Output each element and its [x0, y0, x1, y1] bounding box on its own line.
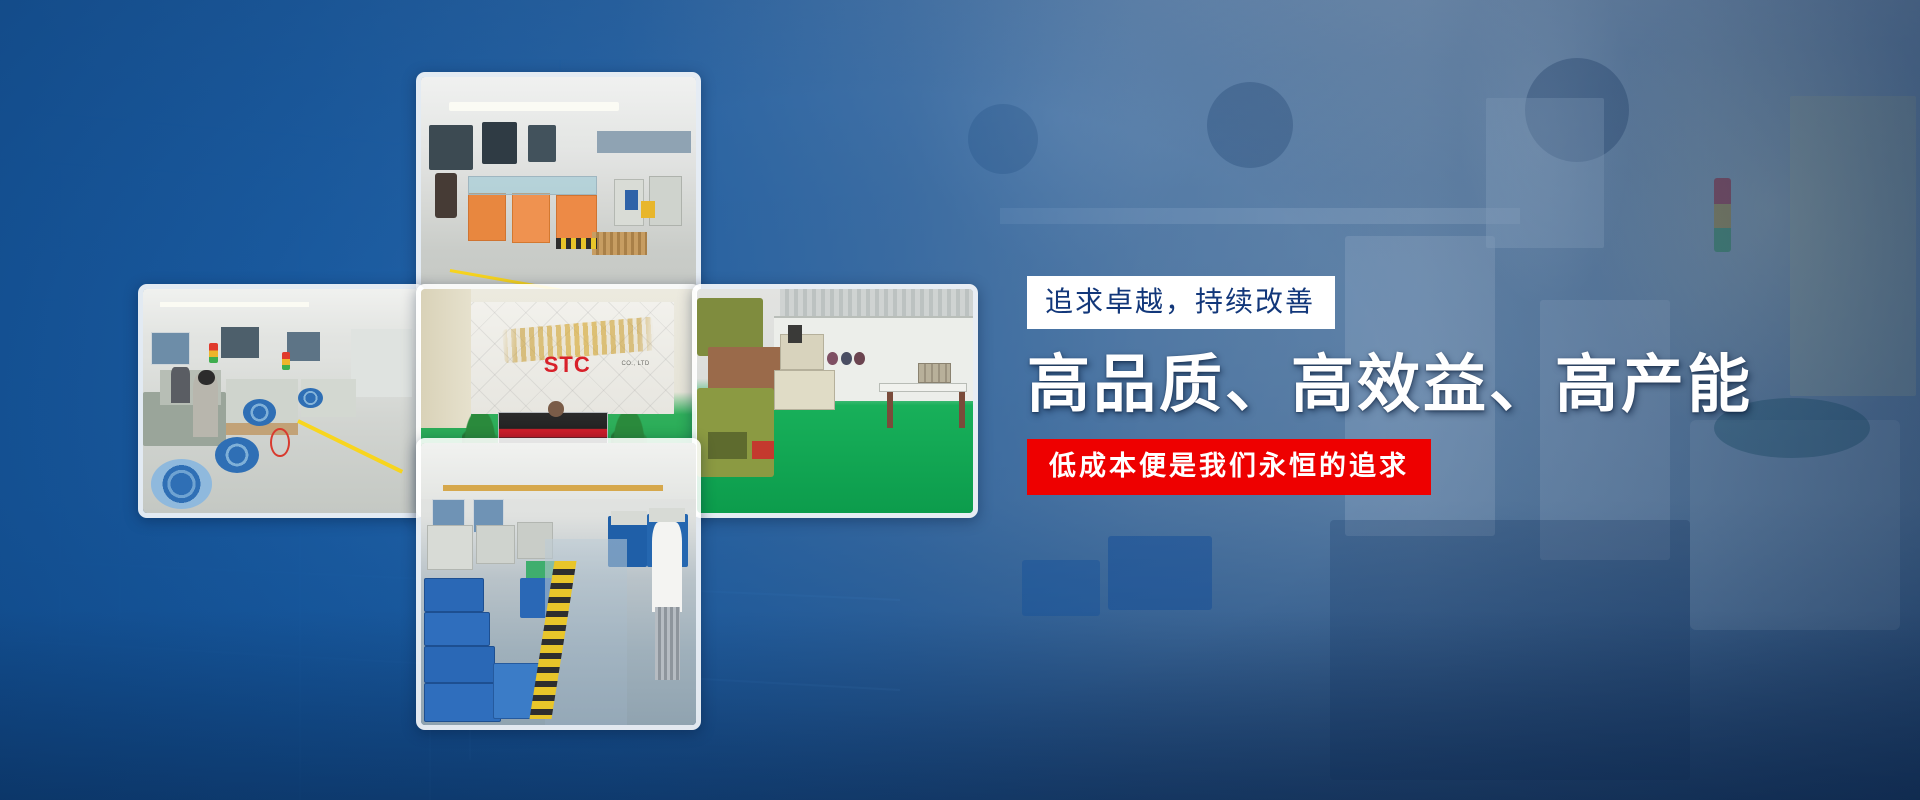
banner-copy: 追求卓越，持续改善 高品质、高效益、高产能 低成本便是我们永恒的追求 — [1027, 276, 1767, 495]
photo-collage: STC CO., LTD — [138, 72, 978, 730]
tool-room-photo[interactable] — [692, 284, 978, 518]
stc-sign-wall: STC CO., LTD — [471, 302, 675, 414]
company-name-en: CO., LTD — [622, 361, 650, 367]
stc-logo: STC — [544, 352, 591, 378]
production-line-photo[interactable] — [138, 284, 425, 518]
tagline-badge: 追求卓越，持续改善 — [1027, 276, 1335, 329]
subline-badge: 低成本便是我们永恒的追求 — [1027, 439, 1431, 495]
page-title: 高品质、高效益、高产能 — [1027, 351, 1767, 419]
workshop-aisle-photo[interactable] — [416, 438, 701, 730]
hero-banner: STC CO., LTD — [0, 0, 1920, 800]
